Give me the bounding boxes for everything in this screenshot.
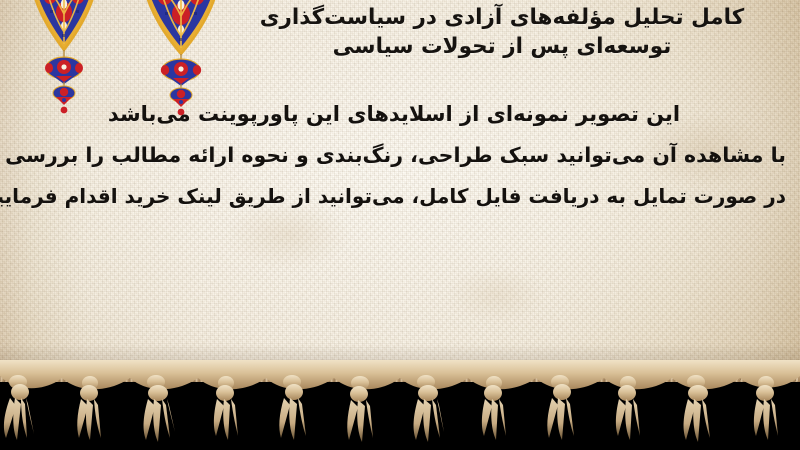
tassel-group — [4, 375, 778, 442]
illumination-ornament-left — [16, 0, 112, 120]
persian-medallion-icon — [16, 0, 112, 116]
fringe-rope-band — [0, 360, 800, 389]
title-line-1: کامل تحلیل مؤلفه‌های آزادی در سیاست‌گذار… — [222, 4, 782, 33]
slide-title: کامل تحلیل مؤلفه‌های آزادی در سیاست‌گذار… — [222, 4, 782, 62]
persian-medallion-icon — [126, 0, 236, 116]
pendant-upper — [45, 57, 83, 84]
body-line-1: این تصویر نمونه‌ای از اسلایدهای این پاور… — [6, 104, 788, 125]
body-line-2: با مشاهده آن می‌توانید سبک طراحی، رنگ‌بن… — [6, 145, 788, 166]
pendant-lower — [53, 86, 75, 105]
pendant-upper — [161, 59, 201, 86]
presentation-slide: کامل تحلیل مؤلفه‌های آزادی در سیاست‌گذار… — [0, 0, 800, 450]
title-line-2: توسعه‌ای پس از تحولات سیاسی — [222, 33, 782, 62]
carpet-fringe — [0, 360, 800, 450]
paper-background: کامل تحلیل مؤلفه‌های آزادی در سیاست‌گذار… — [0, 0, 800, 378]
body-line-3: در صورت تمایل به دریافت فایل کامل، می‌تو… — [6, 186, 788, 206]
tassel-row — [0, 360, 800, 450]
slide-body: این تصویر نمونه‌ای از اسلایدهای این پاور… — [6, 104, 788, 226]
